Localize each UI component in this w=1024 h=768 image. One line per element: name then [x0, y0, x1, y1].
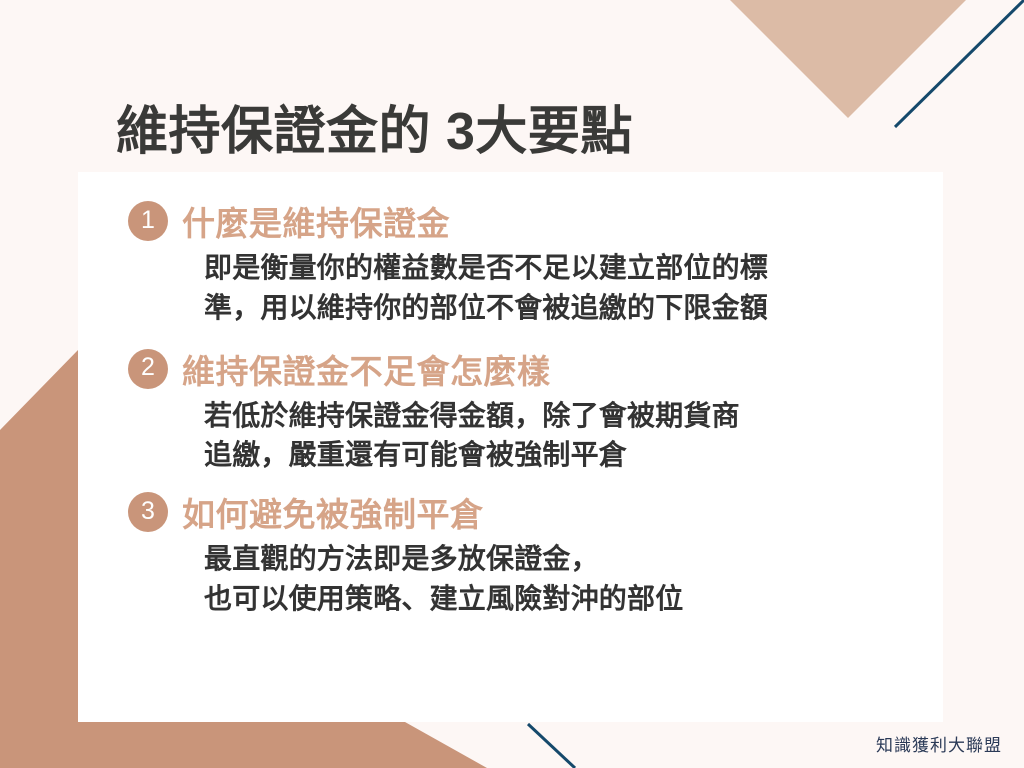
top-right-triangle-shape — [730, 0, 966, 118]
point-number-badge: 3 — [128, 492, 168, 532]
point-number-badge: 2 — [128, 349, 168, 389]
list-item: 2 維持保證金不足會怎麼樣 若低於維持保證金得金額，除了會被期貨商 追繳，嚴重還… — [128, 346, 925, 476]
points-list: 1 什麼是維持保證金 即是衡量你的權益數是否不足以建立部位的標 準，用以維持你的… — [128, 198, 925, 619]
point-header: 2 維持保證金不足會怎麼樣 — [128, 346, 925, 392]
list-item: 1 什麼是維持保證金 即是衡量你的權益數是否不足以建立部位的標 準，用以維持你的… — [128, 198, 925, 328]
point-number-badge: 1 — [128, 201, 168, 241]
point-header: 3 如何避免被強制平倉 — [128, 489, 925, 535]
point-body: 即是衡量你的權益數是否不足以建立部位的標 準，用以維持你的部位不會被追繳的下限金… — [204, 248, 925, 328]
point-title: 什麼是維持保證金 — [182, 197, 450, 245]
point-title: 維持保證金不足會怎麼樣 — [182, 345, 551, 393]
point-title: 如何避免被強制平倉 — [182, 488, 484, 536]
point-body-line: 若低於維持保證金得金額，除了會被期貨商 — [204, 396, 925, 436]
point-body-line: 追繳，嚴重還有可能會被強制平倉 — [204, 435, 925, 475]
content-card: 1 什麼是維持保證金 即是衡量你的權益數是否不足以建立部位的標 準，用以維持你的… — [78, 172, 943, 722]
point-body-line: 也可以使用策略、建立風險對沖的部位 — [204, 579, 925, 619]
footer-brand-text: 知識獲利大聯盟 — [876, 731, 1002, 756]
page-title: 維持保證金的 3大要點 — [116, 103, 633, 163]
point-body-line: 即是衡量你的權益數是否不足以建立部位的標 — [204, 248, 925, 288]
point-body-line: 最直觀的方法即是多放保證金， — [204, 539, 925, 579]
list-item: 3 如何避免被強制平倉 最直觀的方法即是多放保證金， 也可以使用策略、建立風險對… — [128, 489, 925, 619]
bottom-diagonal-line — [528, 724, 575, 768]
slide-canvas: 維持保證金的 3大要點 1 什麼是維持保證金 即是衡量你的權益數是否不足以建立部… — [0, 0, 1024, 768]
point-body: 最直觀的方法即是多放保證金， 也可以使用策略、建立風險對沖的部位 — [204, 539, 925, 619]
top-right-diagonal-line — [895, 0, 1024, 127]
point-body: 若低於維持保證金得金額，除了會被期貨商 追繳，嚴重還有可能會被強制平倉 — [204, 396, 925, 476]
point-header: 1 什麼是維持保證金 — [128, 198, 925, 244]
point-body-line: 準，用以維持你的部位不會被追繳的下限金額 — [204, 288, 925, 328]
